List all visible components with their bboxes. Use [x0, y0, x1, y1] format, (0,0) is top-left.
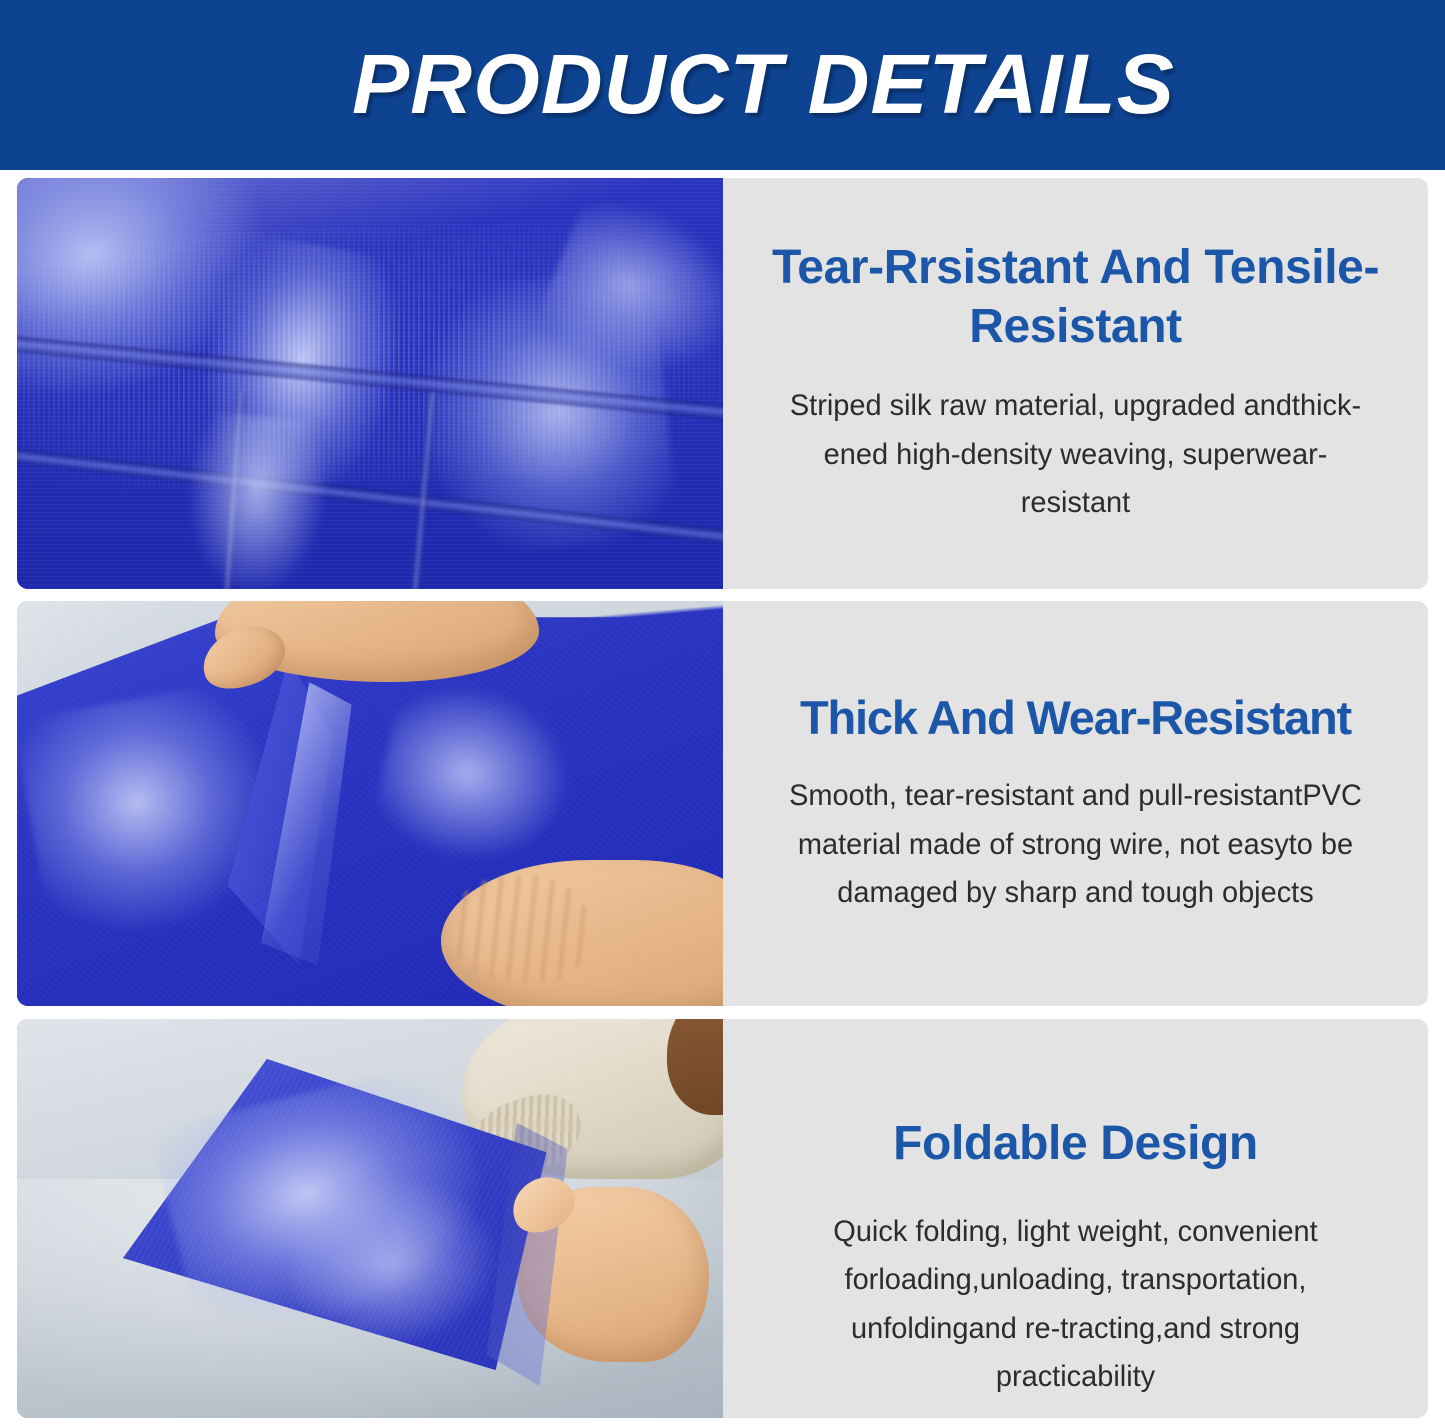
- feature-description: Smooth, tear-resistant and pull-resistan…: [772, 772, 1379, 918]
- gloss-highlight: [180, 412, 333, 589]
- tarp-macro-illustration: [17, 178, 723, 589]
- feature-row: Thick And Wear-Resistant Smooth, tear-re…: [17, 601, 1428, 1006]
- feature-image-wear-resistant: [17, 601, 723, 1006]
- feature-description: Striped silk raw material, upgraded andt…: [772, 382, 1379, 528]
- product-details-infographic: PRODUCT DETAILS Tear-Rrsistant And Tensi…: [0, 0, 1445, 1427]
- feature-image-foldable: [17, 1019, 723, 1418]
- tarp-stretch-illustration: [17, 601, 723, 1006]
- feature-description: Quick folding, light weight, convenient …: [772, 1208, 1379, 1402]
- feature-image-tear-resistant: [17, 178, 723, 589]
- feature-title: Thick And Wear-Resistant: [800, 689, 1351, 746]
- feature-row: Tear-Rrsistant And Tensile-Resistant Str…: [17, 178, 1428, 589]
- knuckle-shading: [448, 876, 589, 981]
- feature-text-pane: Thick And Wear-Resistant Smooth, tear-re…: [723, 601, 1428, 1006]
- feature-text-pane: Foldable Design Quick folding, light wei…: [723, 1019, 1428, 1418]
- gloss-highlight: [272, 1161, 510, 1363]
- folded-tarp-illustration: [17, 1019, 723, 1418]
- page-title: PRODUCT DETAILS: [352, 36, 1175, 133]
- feature-text-pane: Tear-Rrsistant And Tensile-Resistant Str…: [723, 178, 1428, 589]
- feature-title: Tear-Rrsistant And Tensile-Resistant: [761, 239, 1390, 356]
- feature-title: Foldable Design: [893, 1115, 1258, 1174]
- page-header-banner: PRODUCT DETAILS: [0, 0, 1445, 170]
- feature-row: Foldable Design Quick folding, light wei…: [17, 1019, 1428, 1418]
